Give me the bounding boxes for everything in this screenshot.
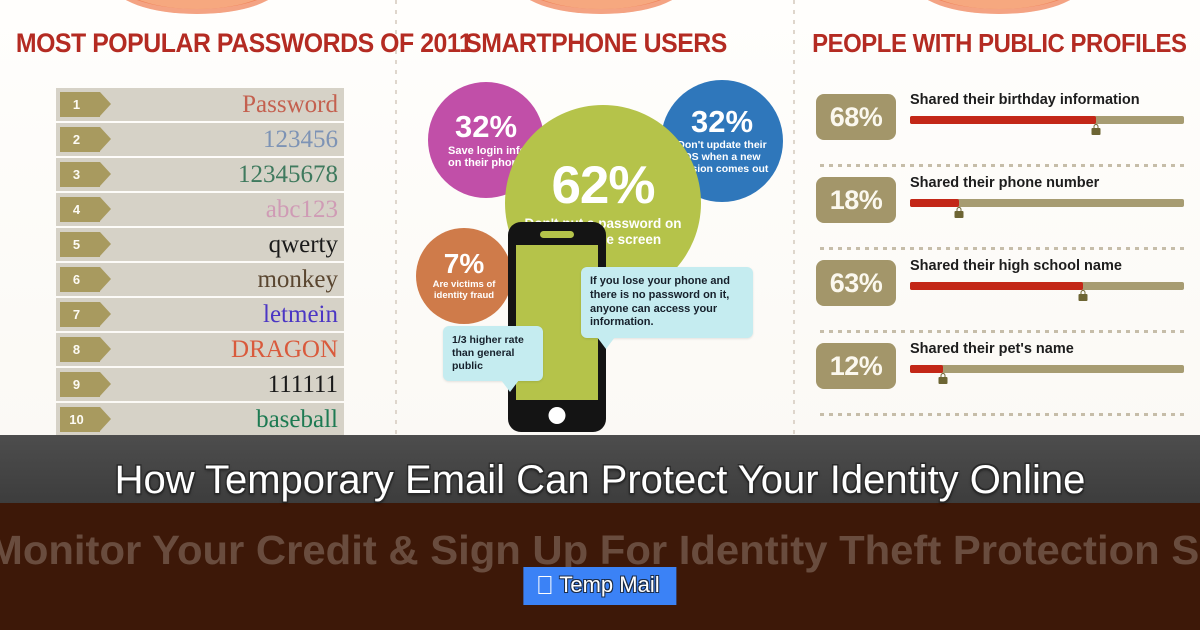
- panel-popular-passwords: MOST POPULAR PASSWORDS OF 2011 1Password…: [0, 0, 396, 505]
- password-word: monkey: [100, 267, 344, 292]
- percent-badge: 18%: [816, 177, 896, 223]
- padlock-marker-icon: [938, 373, 947, 384]
- public-profile-body: Shared their birthday information: [910, 92, 1184, 124]
- password-row: 5qwerty: [56, 228, 344, 261]
- password-rank-badge: 4: [60, 197, 100, 222]
- password-row: 2123456: [56, 123, 344, 156]
- stat-bar-track: [910, 365, 1184, 373]
- password-word: 123456: [100, 127, 344, 152]
- password-rank-badge: 10: [60, 407, 100, 432]
- public-profile-row: 18%Shared their phone number: [816, 171, 1190, 254]
- password-word: letmein: [100, 302, 344, 327]
- missing-glyph-box-icon: [538, 576, 551, 594]
- password-rank-badge: 9: [60, 372, 100, 397]
- password-row: 6monkey: [56, 263, 344, 296]
- password-rank-badge: 2: [60, 127, 100, 152]
- password-rank-badge: 1: [60, 92, 100, 117]
- padlock-marker-icon: [1078, 290, 1087, 301]
- password-word: abc123: [100, 197, 344, 222]
- callout-text: 1/3 higher rate than general public: [452, 334, 524, 372]
- password-word: 12345678: [100, 162, 344, 187]
- password-row: 10baseball: [56, 403, 344, 436]
- row-dotted-separator: [820, 247, 1186, 250]
- padlock-marker-icon: [1092, 124, 1101, 135]
- stat-bar-track: [910, 199, 1184, 207]
- password-rank-badge: 6: [60, 267, 100, 292]
- password-row: 8DRAGON: [56, 333, 344, 366]
- public-profile-stats-list: 68%Shared their birthday information18%S…: [816, 88, 1190, 420]
- password-rank-badge: 3: [60, 162, 100, 187]
- password-word: baseball: [100, 407, 344, 432]
- bubble-caption: Are victims of identity fraud: [423, 280, 505, 301]
- padlock-marker-icon: [955, 207, 964, 218]
- password-word: DRAGON: [100, 337, 344, 362]
- panel-public-profiles: PEOPLE WITH PUBLIC PROFILES 68%Shared th…: [796, 0, 1200, 505]
- bubble-percent: 32%: [455, 111, 517, 142]
- brand-label: Temp Mail: [559, 572, 659, 598]
- stat-bar-fill: [910, 365, 943, 373]
- row-dotted-separator: [820, 330, 1186, 333]
- password-rank-list: 1Password21234563123456784abc1235qwerty6…: [56, 88, 344, 438]
- higher-rate-callout: 1/3 higher rate than general public: [443, 326, 543, 381]
- password-row: 1Password: [56, 88, 344, 121]
- stat-label: Shared their birthday information: [910, 92, 1184, 108]
- password-word: qwerty: [100, 232, 344, 257]
- percent-badge: 63%: [816, 260, 896, 306]
- password-word: Password: [100, 92, 344, 117]
- bubble-percent: 62%: [551, 159, 654, 212]
- public-profile-body: Shared their high school name: [910, 258, 1184, 290]
- row-dotted-separator: [820, 164, 1186, 167]
- panel-title-passwords: MOST POPULAR PASSWORDS OF 2011: [16, 28, 380, 59]
- stat-bar-fill: [910, 282, 1083, 290]
- bubble-percent: 7%: [444, 250, 484, 278]
- password-row: 9111111: [56, 368, 344, 401]
- public-profile-body: Shared their phone number: [910, 175, 1184, 207]
- percent-badge: 68%: [816, 94, 896, 140]
- password-row: 4abc123: [56, 193, 344, 226]
- row-dotted-separator: [820, 413, 1186, 416]
- callout-text: If you lose your phone and there is no p…: [590, 275, 730, 328]
- stat-bar-fill: [910, 199, 959, 207]
- password-rank-badge: 5: [60, 232, 100, 257]
- password-row: 7letmein: [56, 298, 344, 331]
- temp-mail-brand-badge[interactable]: Temp Mail: [523, 567, 676, 605]
- stat-label: Shared their high school name: [910, 258, 1184, 274]
- bubble-percent: 32%: [691, 106, 753, 137]
- stat-bar-track: [910, 116, 1184, 124]
- page-title: How Temporary Email Can Protect Your Ide…: [40, 455, 1160, 506]
- stat-label: Shared their phone number: [910, 175, 1184, 191]
- public-profile-body: Shared their pet's name: [910, 341, 1184, 373]
- stat-bar-fill: [910, 116, 1096, 124]
- lost-phone-callout: If you lose your phone and there is no p…: [581, 267, 753, 338]
- panel-title-public-profiles: PEOPLE WITH PUBLIC PROFILES: [812, 28, 1184, 59]
- panel-title-smartphone: SMARTPHONE USERS: [414, 28, 778, 59]
- screenshot-stage: MOST POPULAR PASSWORDS OF 2011 1Password…: [0, 0, 1200, 630]
- password-rank-badge: 7: [60, 302, 100, 327]
- stat-bar-track: [910, 282, 1184, 290]
- public-profile-row: 12%Shared their pet's name: [816, 337, 1190, 420]
- public-profile-row: 63%Shared their high school name: [816, 254, 1190, 337]
- callout-tail-icon: [501, 380, 519, 392]
- percent-badge: 12%: [816, 343, 896, 389]
- password-row: 312345678: [56, 158, 344, 191]
- callout-tail-icon: [597, 337, 615, 349]
- panel-smartphone-users: SMARTPHONE USERS 32% Save login info on …: [398, 0, 794, 505]
- stat-label: Shared their pet's name: [910, 341, 1184, 357]
- identity-fraud-bubble: 7% Are victims of identity fraud: [416, 228, 512, 324]
- phone-home-button-icon: [549, 407, 566, 424]
- password-rank-badge: 8: [60, 337, 100, 362]
- phone-speaker-icon: [540, 231, 574, 238]
- password-word: 111111: [100, 372, 344, 397]
- public-profile-row: 68%Shared their birthday information: [816, 88, 1190, 171]
